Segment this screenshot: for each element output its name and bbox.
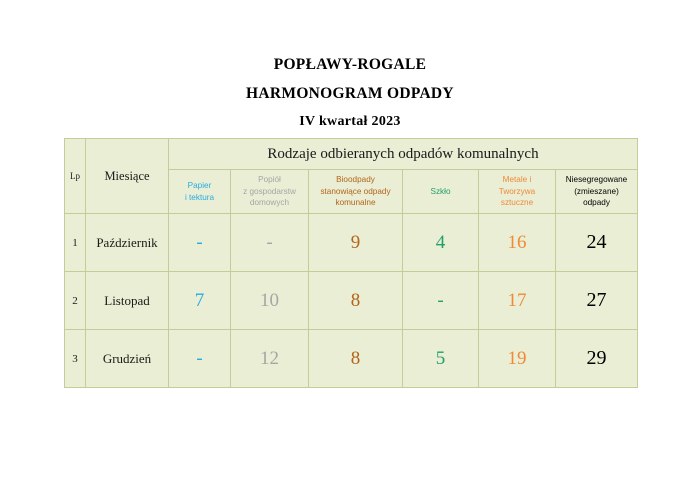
row-value-szklo: 5 bbox=[403, 330, 479, 388]
row-lp: 3 bbox=[65, 330, 86, 388]
waste-schedule-table: Lp Miesiące Rodzaje odbieranych odpadów … bbox=[64, 138, 638, 388]
header-col-zmieszane-line-2: (zmieszane) bbox=[556, 186, 637, 198]
header-col-bioodpady-line-1: Bioodpady bbox=[309, 174, 402, 186]
row-value-bioodpady: 8 bbox=[309, 272, 403, 330]
header-col-popiol-line-1: Popiół bbox=[231, 174, 308, 186]
row-value-szklo: 4 bbox=[403, 214, 479, 272]
header-months: Miesiące bbox=[86, 139, 169, 214]
row-lp: 1 bbox=[65, 214, 86, 272]
header-col-metale: Metale i Tworzywa sztuczne bbox=[479, 170, 556, 214]
header-col-metale-line-2: Tworzywa bbox=[479, 186, 555, 198]
row-month: Październik bbox=[86, 214, 169, 272]
page-title-line-1: POPŁAWY-ROGALE bbox=[0, 54, 700, 76]
row-value-papier: - bbox=[169, 214, 231, 272]
header-col-metale-line-3: sztuczne bbox=[479, 197, 555, 209]
header-col-zmieszane: Niesegregowane (zmieszane) odpady bbox=[556, 170, 638, 214]
row-value-bioodpady: 9 bbox=[309, 214, 403, 272]
row-lp: 2 bbox=[65, 272, 86, 330]
page-title-line-3: IV kwartał 2023 bbox=[0, 112, 700, 132]
document-title-block: POPŁAWY-ROGALE HARMONOGRAM ODPADY IV kwa… bbox=[0, 54, 700, 132]
header-lp: Lp bbox=[65, 139, 86, 214]
header-col-szklo: Szkło bbox=[403, 170, 479, 214]
header-col-papier-line-1: Papier bbox=[169, 180, 230, 192]
table-row: 3 Grudzień - 12 8 5 19 29 bbox=[65, 330, 638, 388]
row-value-zmieszane: 27 bbox=[556, 272, 638, 330]
row-value-metale: 16 bbox=[479, 214, 556, 272]
row-value-popiol: - bbox=[231, 214, 309, 272]
row-value-bioodpady: 8 bbox=[309, 330, 403, 388]
header-col-popiol: Popiół z gospodarstw domowych bbox=[231, 170, 309, 214]
header-col-papier: Papier i tektura bbox=[169, 170, 231, 214]
header-col-zmieszane-line-1: Niesegregowane bbox=[556, 174, 637, 186]
page-title-line-2: HARMONOGRAM ODPADY bbox=[0, 83, 700, 105]
header-col-papier-line-2: i tektura bbox=[169, 192, 230, 204]
header-col-metale-line-1: Metale i bbox=[479, 174, 555, 186]
row-value-papier: - bbox=[169, 330, 231, 388]
table-row: 1 Październik - - 9 4 16 24 bbox=[65, 214, 638, 272]
header-col-bioodpady-line-3: komunalne bbox=[309, 197, 402, 209]
row-value-szklo: - bbox=[403, 272, 479, 330]
header-col-zmieszane-line-3: odpady bbox=[556, 197, 637, 209]
row-value-zmieszane: 29 bbox=[556, 330, 638, 388]
row-value-papier: 7 bbox=[169, 272, 231, 330]
header-waste-types-group: Rodzaje odbieranych odpadów komunalnych bbox=[169, 139, 638, 170]
row-month: Grudzień bbox=[86, 330, 169, 388]
header-col-bioodpady-line-2: stanowiące odpady bbox=[309, 186, 402, 198]
document-page: POPŁAWY-ROGALE HARMONOGRAM ODPADY IV kwa… bbox=[0, 0, 700, 495]
row-value-metale: 17 bbox=[479, 272, 556, 330]
header-col-popiol-line-2: z gospodarstw bbox=[231, 186, 308, 198]
header-col-popiol-line-3: domowych bbox=[231, 197, 308, 209]
row-month: Listopad bbox=[86, 272, 169, 330]
table-row: 2 Listopad 7 10 8 - 17 27 bbox=[65, 272, 638, 330]
header-col-bioodpady: Bioodpady stanowiące odpady komunalne bbox=[309, 170, 403, 214]
row-value-popiol: 10 bbox=[231, 272, 309, 330]
row-value-popiol: 12 bbox=[231, 330, 309, 388]
header-col-szklo-line-1: Szkło bbox=[403, 186, 478, 198]
row-value-metale: 19 bbox=[479, 330, 556, 388]
row-value-zmieszane: 24 bbox=[556, 214, 638, 272]
table-header-row-top: Lp Miesiące Rodzaje odbieranych odpadów … bbox=[65, 139, 638, 170]
